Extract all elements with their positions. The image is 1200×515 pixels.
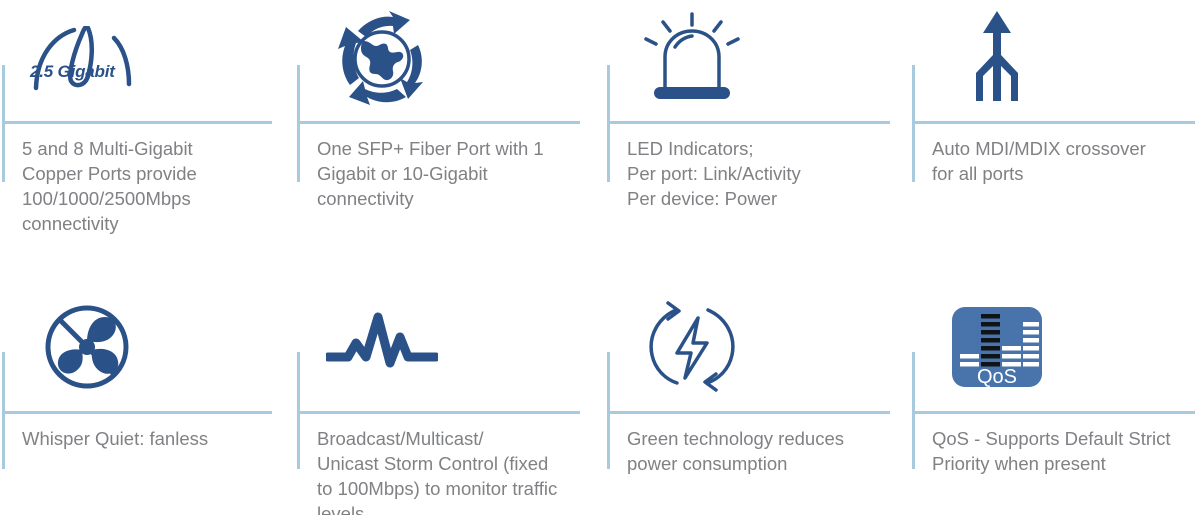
feature-card-storm-control: Broadcast/Multicast/ Unicast Storm Contr… bbox=[295, 260, 605, 515]
qos-equalizer-badge-icon: QoS bbox=[932, 288, 1062, 406]
feature-card-sfp-fiber-port: One SFP+ Fiber Port with 1 Gigabit or 10… bbox=[295, 0, 605, 260]
divider-horizontal bbox=[912, 411, 1195, 414]
feature-card-led-indicators: LED Indicators; Per port: Link/Activity … bbox=[605, 0, 910, 260]
divider-horizontal bbox=[912, 121, 1195, 124]
feature-card-whisper-quiet: Whisper Quiet: fanless bbox=[0, 260, 295, 515]
feature-description: Whisper Quiet: fanless bbox=[22, 426, 284, 451]
feature-description: 5 and 8 Multi-Gigabit Copper Ports provi… bbox=[22, 136, 284, 236]
globe-recycle-arrows-icon bbox=[317, 0, 447, 118]
fan-no-fan-icon bbox=[22, 288, 152, 406]
feature-description: Green technology reduces power consumpti… bbox=[627, 426, 889, 476]
qos-badge-label: QoS bbox=[977, 366, 1017, 388]
divider-horizontal bbox=[607, 411, 890, 414]
divider-horizontal bbox=[2, 121, 272, 124]
feature-card-green-technology: Green technology reduces power consumpti… bbox=[605, 260, 910, 515]
feature-description: LED Indicators; Per port: Link/Activity … bbox=[627, 136, 889, 211]
led-beacon-light-icon bbox=[627, 0, 757, 118]
feature-card-qos: QoS QoS - Supports Default Strict Priori… bbox=[910, 260, 1200, 515]
feature-card-auto-mdi-mdix: Auto MDI/MDIX crossover for all ports bbox=[910, 0, 1200, 260]
feature-description: Broadcast/Multicast/ Unicast Storm Contr… bbox=[317, 426, 597, 515]
feature-card-multi-gigabit-ports: 2.5 Gigabit 5 and 8 Multi-Gigabit Copper… bbox=[0, 0, 295, 260]
divider-horizontal bbox=[2, 411, 272, 414]
speedometer-gauge-icon bbox=[22, 0, 152, 118]
energy-recycle-bolt-icon bbox=[627, 288, 757, 406]
divider-horizontal bbox=[607, 121, 890, 124]
feature-description: One SFP+ Fiber Port with 1 Gigabit or 10… bbox=[317, 136, 597, 211]
feature-description: QoS - Supports Default Strict Priority w… bbox=[932, 426, 1197, 476]
feature-description: Auto MDI/MDIX crossover for all ports bbox=[932, 136, 1197, 186]
feature-grid: 2.5 Gigabit 5 and 8 Multi-Gigabit Copper… bbox=[0, 0, 1200, 515]
gigabit-caption: 2.5 Gigabit bbox=[30, 62, 115, 82]
merging-arrows-crossover-icon bbox=[932, 0, 1062, 118]
divider-horizontal bbox=[297, 411, 580, 414]
waveform-pulse-icon bbox=[317, 288, 447, 406]
divider-horizontal bbox=[297, 121, 580, 124]
